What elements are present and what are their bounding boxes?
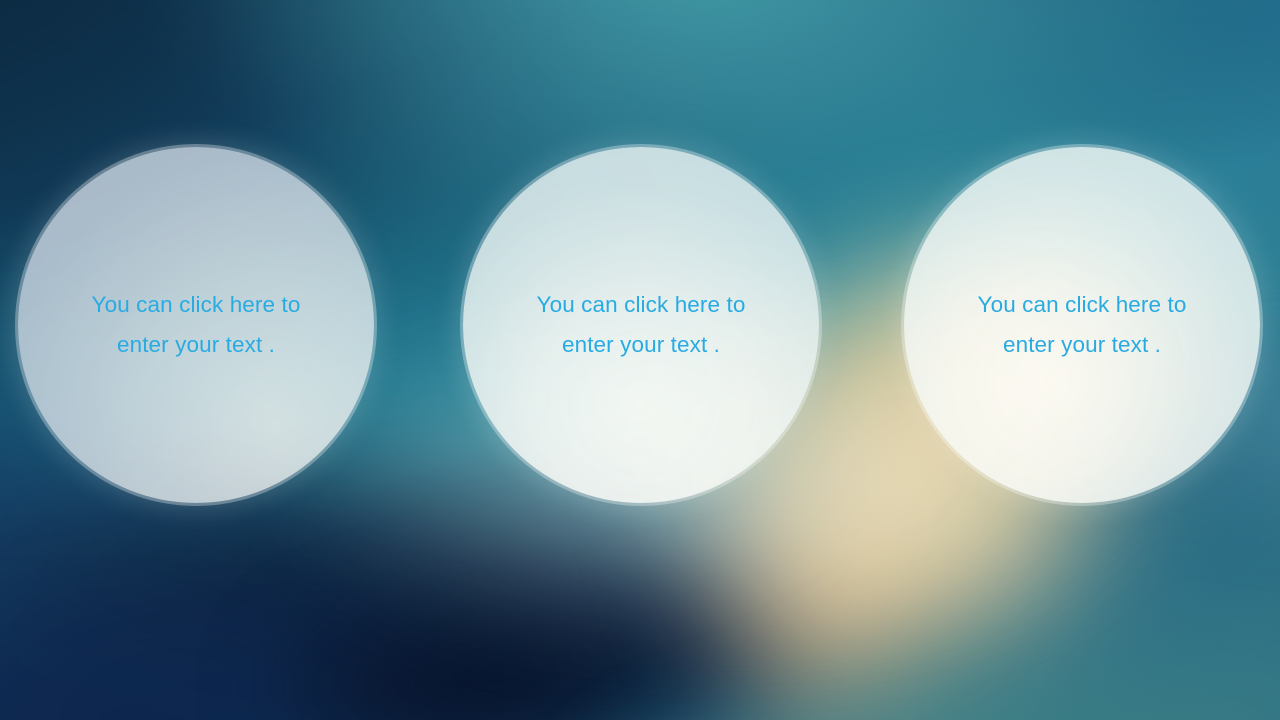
circle-placeholder-1[interactable]: You can click here to enter your text . xyxy=(18,147,374,503)
circle-placeholder-2[interactable]: You can click here to enter your text . xyxy=(463,147,819,503)
circle-placeholder-3[interactable]: You can click here to enter your text . xyxy=(904,147,1260,503)
circle-placeholder-2-text[interactable]: You can click here to enter your text . xyxy=(509,285,773,365)
circle-placeholder-1-text[interactable]: You can click here to enter your text . xyxy=(64,285,328,365)
slide-canvas: You can click here to enter your text . … xyxy=(0,0,1280,720)
circle-placeholder-row: You can click here to enter your text . … xyxy=(0,0,1280,720)
circle-placeholder-3-text[interactable]: You can click here to enter your text . xyxy=(950,285,1214,365)
